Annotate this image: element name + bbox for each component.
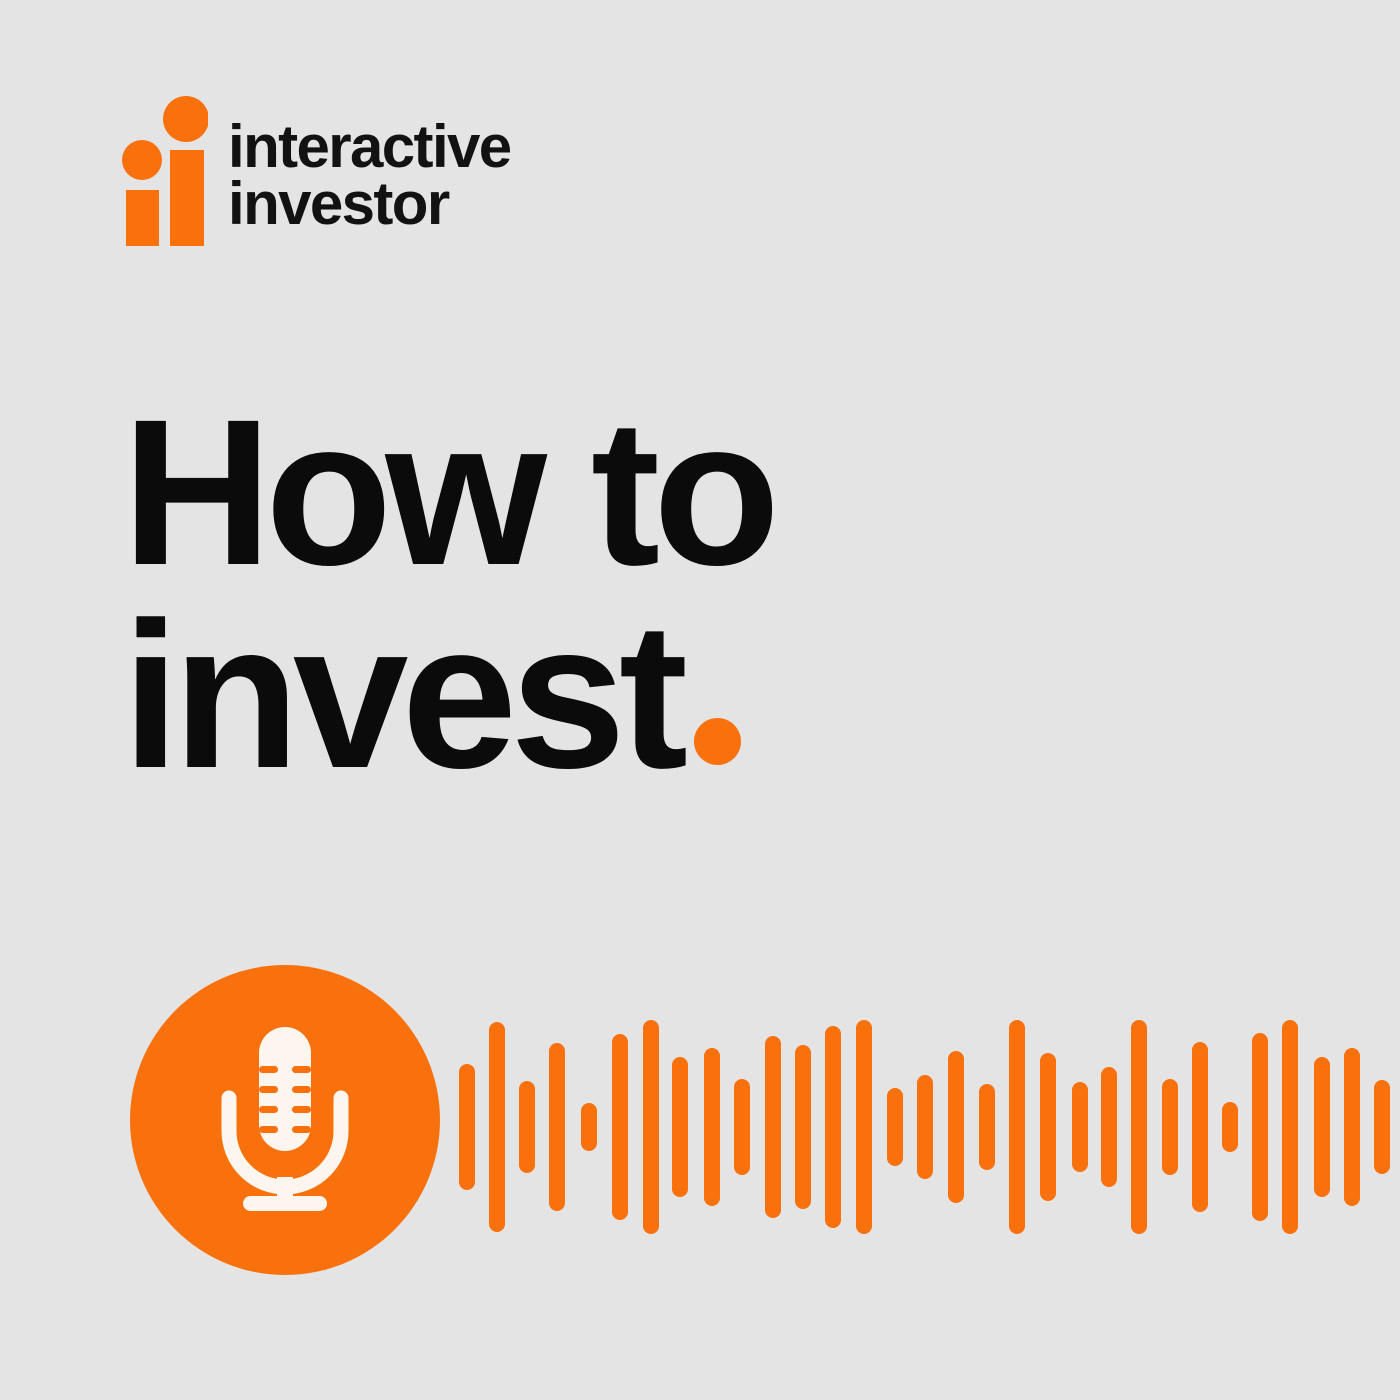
waveform-bar: [1162, 1079, 1178, 1175]
waveform-bar: [1009, 1020, 1025, 1234]
waveform-bar: [672, 1057, 688, 1197]
title-line-1: How to: [122, 392, 1022, 595]
title-line-2: invest: [122, 595, 1022, 798]
waveform-bar: [825, 1026, 841, 1228]
waveform-bar: [1222, 1102, 1238, 1152]
waveform-bar: [612, 1034, 628, 1220]
waveform-bar: [1072, 1082, 1088, 1172]
waveform-bar: [1314, 1057, 1330, 1197]
waveform-bar: [887, 1088, 903, 1166]
microphone-badge: [130, 965, 440, 1275]
waveform-bar: [1374, 1080, 1390, 1174]
brand-lockup: interactive investor: [122, 96, 642, 252]
waveform-bar: [734, 1079, 750, 1175]
waveform-bar: [643, 1020, 659, 1234]
waveform-bar: [795, 1045, 811, 1209]
waveform-bar: [1192, 1042, 1208, 1212]
waveform-bar: [856, 1020, 872, 1234]
waveform-bar: [979, 1084, 995, 1170]
brand-wordmark-line-1: interactive: [228, 118, 628, 175]
waveform-bar: [459, 1064, 475, 1190]
brand-wordmark: interactive investor: [228, 118, 628, 232]
brand-wordmark-line-2: investor: [228, 175, 628, 232]
waveform-bar: [489, 1022, 505, 1232]
microphone-icon: [215, 1027, 355, 1213]
waveform-bar: [704, 1048, 720, 1206]
waveform-bar: [1040, 1053, 1056, 1201]
waveform-bar: [549, 1043, 565, 1211]
waveform-bar: [1252, 1033, 1268, 1221]
podcast-cover-art: interactive investor How to invest: [0, 0, 1400, 1400]
waveform-bar: [917, 1075, 933, 1179]
waveform-bar: [1282, 1020, 1298, 1234]
waveform-bar: [1131, 1020, 1147, 1234]
waveform-bar: [1101, 1067, 1117, 1187]
waveform-bar: [519, 1081, 535, 1173]
title-accent-dot: [694, 718, 741, 765]
waveform-bar: [948, 1051, 964, 1203]
title-line-2-word: invest: [122, 580, 681, 812]
page-title: How to invest: [122, 392, 1022, 798]
waveform-bar: [581, 1103, 597, 1151]
waveform-bar: [765, 1036, 781, 1218]
waveform-bar: [1344, 1048, 1360, 1206]
interactive-investor-logo-icon: [122, 96, 208, 246]
